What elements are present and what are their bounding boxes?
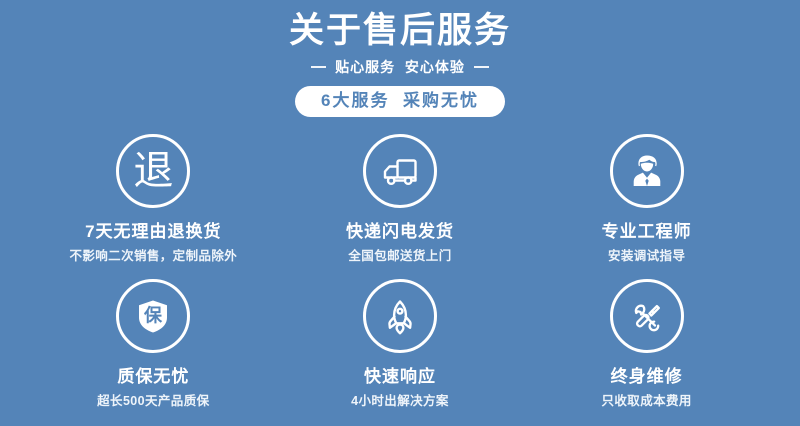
service-count-badge: 6大服务 采购无忧 <box>295 86 505 117</box>
service-item-warranty: 保 质保无忧 超长500天产品质保 <box>30 279 277 424</box>
after-sales-service-banner: 关于售后服务 贴心服务 安心体验 6大服务 采购无忧 退 7天无理由退换货 不影… <box>0 0 800 426</box>
page-subtitle: 贴心服务 安心体验 <box>335 57 465 77</box>
service-item-repair: 终身维修 只收取成本费用 <box>523 279 770 424</box>
service-title: 终身维修 <box>611 367 683 387</box>
wrench-screwdriver-icon <box>610 279 684 353</box>
service-subtitle: 安装调试指导 <box>608 248 685 264</box>
dash-right-icon <box>474 66 489 68</box>
service-subtitle: 全国包邮送货上门 <box>348 248 451 264</box>
subtitle-row: 贴心服务 安心体验 <box>0 57 800 77</box>
rocket-icon <box>363 279 437 353</box>
delivery-truck-icon <box>363 134 437 208</box>
service-title: 快递闪电发货 <box>346 222 454 242</box>
service-item-engineer: 专业工程师 安装调试指导 <box>523 134 770 279</box>
service-subtitle: 只收取成本费用 <box>602 393 692 409</box>
badge-row: 6大服务 采购无忧 <box>0 86 800 117</box>
service-item-return: 退 7天无理由退换货 不影响二次销售，定制品除外 <box>30 134 277 279</box>
banner-header: 关于售后服务 贴心服务 安心体验 6大服务 采购无忧 <box>0 0 800 117</box>
service-title: 专业工程师 <box>602 222 692 242</box>
service-title: 质保无忧 <box>117 367 189 387</box>
service-item-response: 快速响应 4小时出解决方案 <box>277 279 524 424</box>
service-item-delivery: 快递闪电发货 全国包邮送货上门 <box>277 134 524 279</box>
service-subtitle: 4小时出解决方案 <box>351 393 449 409</box>
service-title: 7天无理由退换货 <box>85 222 221 242</box>
engineer-icon <box>610 134 684 208</box>
dash-left-icon <box>311 66 326 68</box>
service-subtitle: 超长500天产品质保 <box>97 393 209 409</box>
service-grid: 退 7天无理由退换货 不影响二次销售，定制品除外 快递闪电发货 全国包邮送货上门 <box>30 134 770 424</box>
return-glyph: 退 <box>133 151 173 191</box>
warranty-glyph: 保 <box>143 305 163 327</box>
service-title: 快速响应 <box>364 367 436 387</box>
page-title: 关于售后服务 <box>0 9 800 53</box>
warranty-shield-icon: 保 <box>116 279 190 353</box>
return-icon: 退 <box>116 134 190 208</box>
service-subtitle: 不影响二次销售，定制品除外 <box>69 248 237 264</box>
